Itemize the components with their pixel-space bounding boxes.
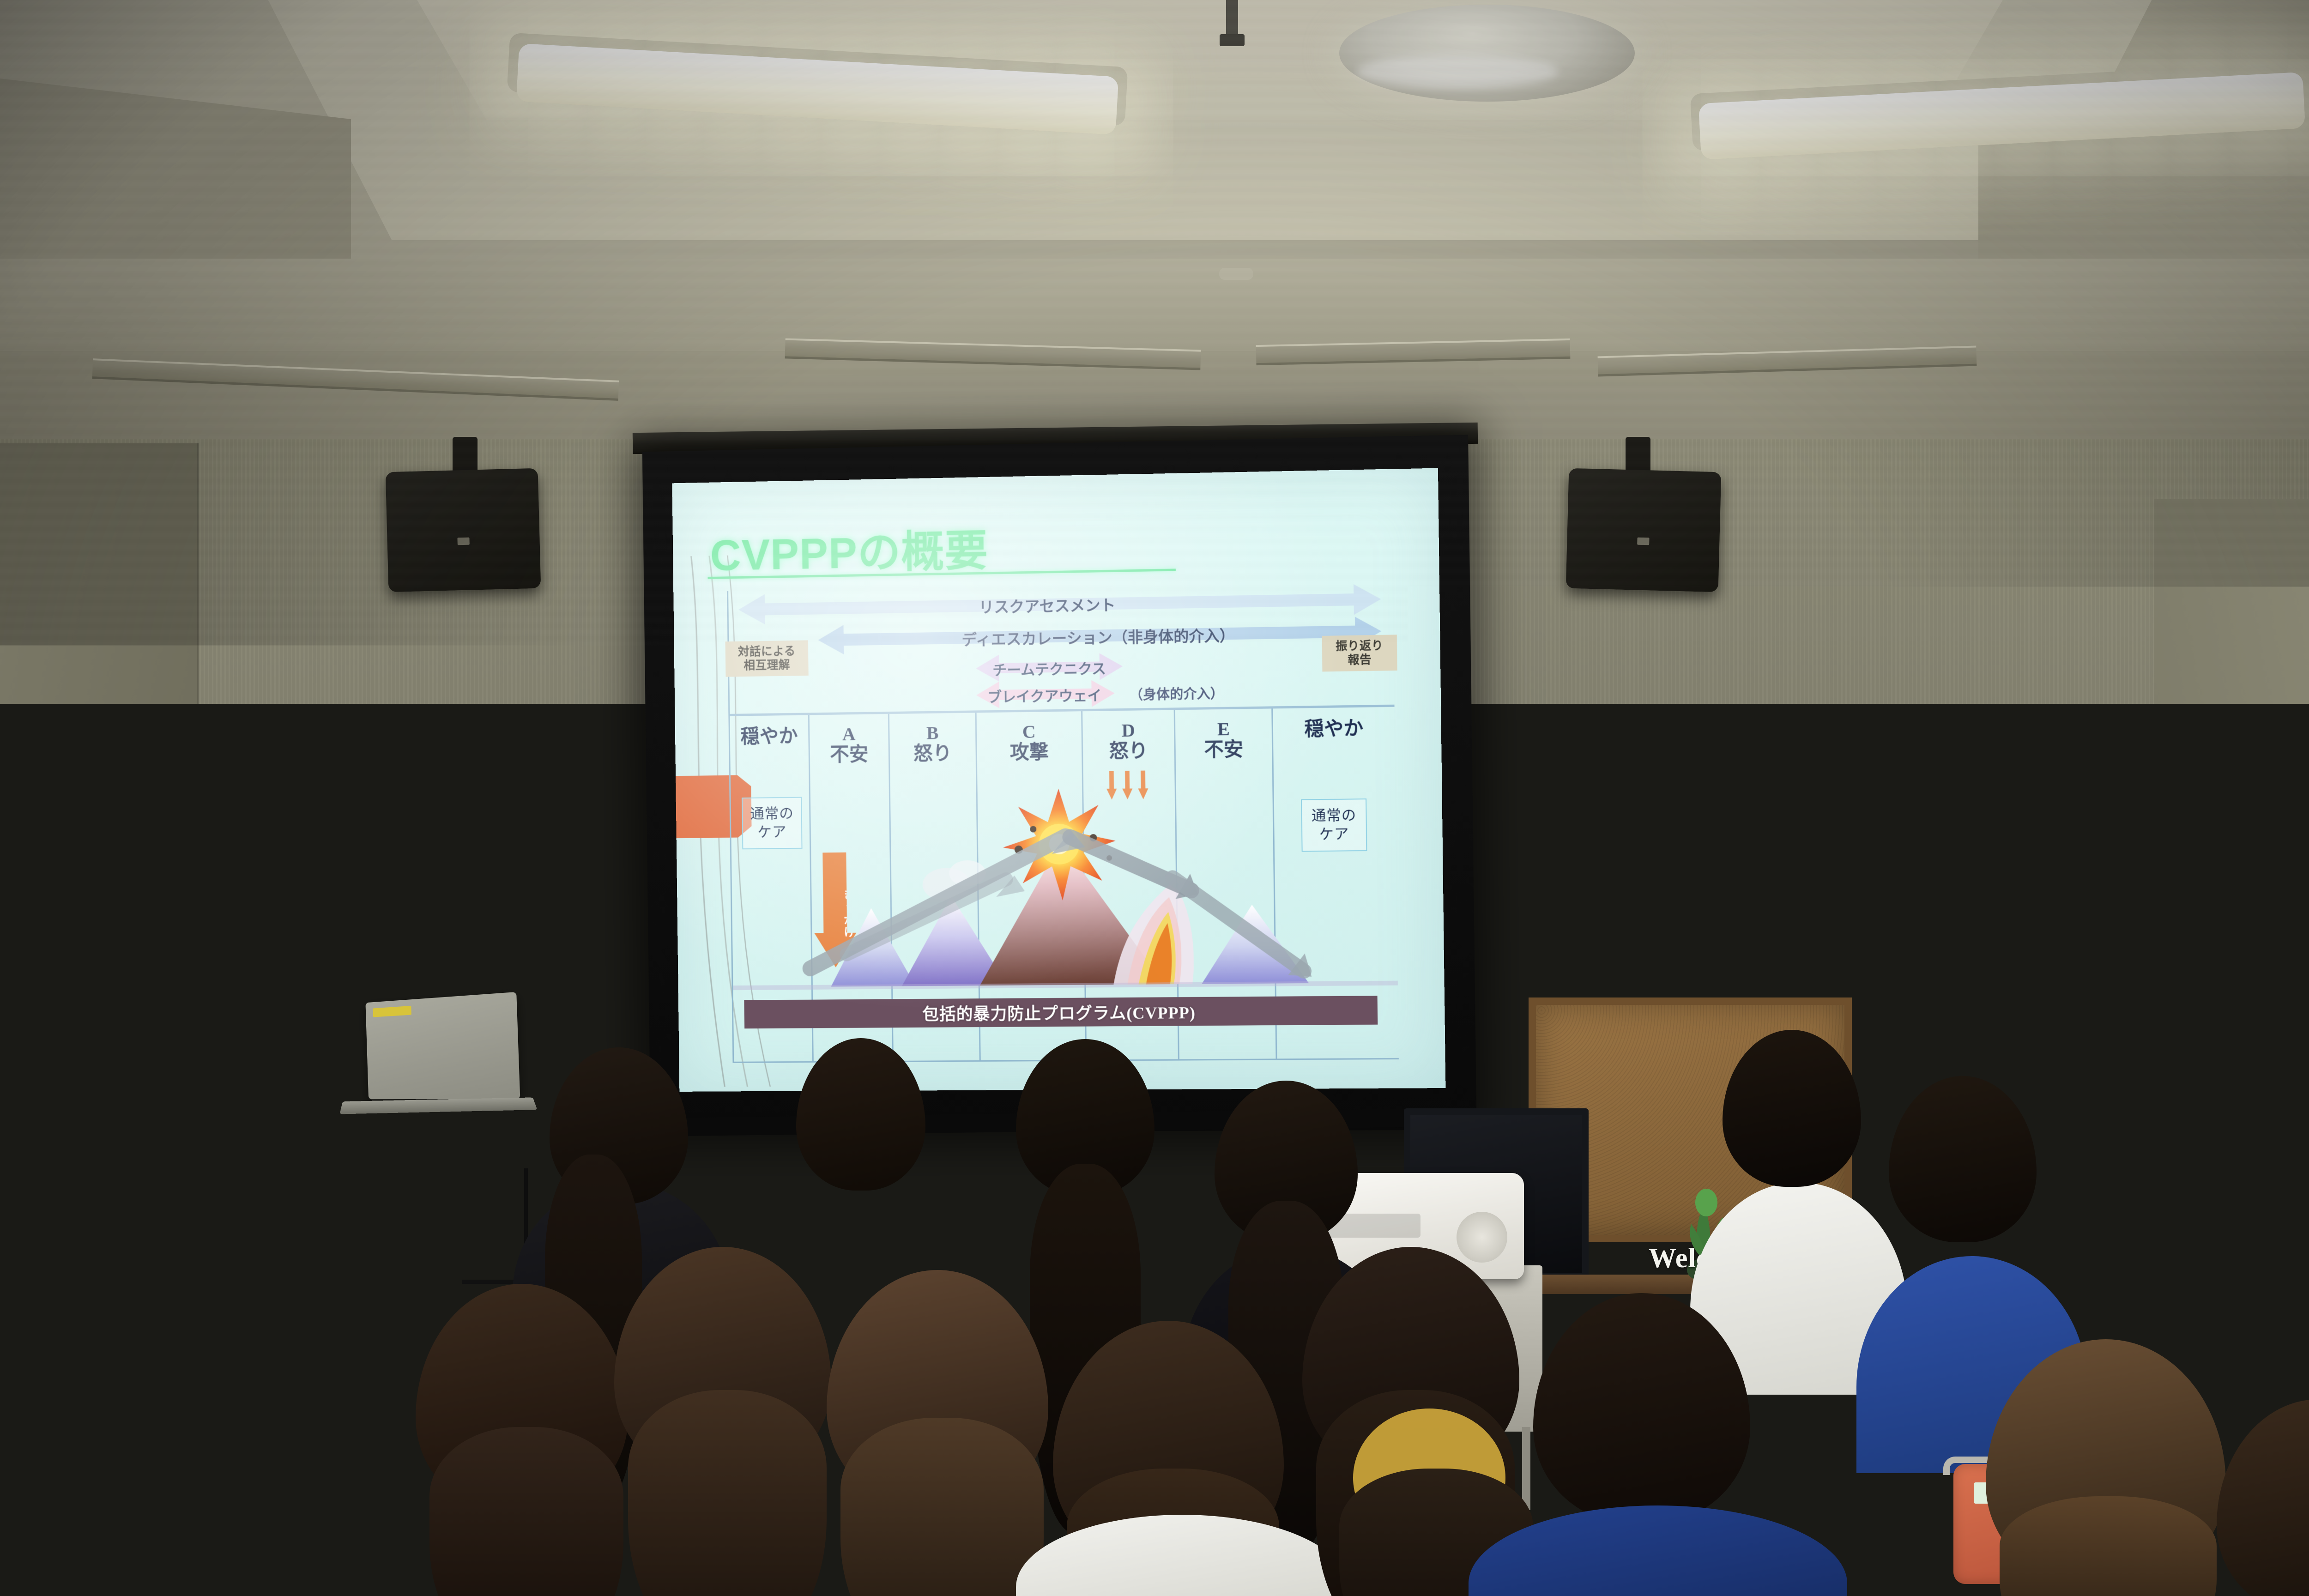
arrow-band: リスクアセスメント ディエスカレーション（非身体的介入） チームテクニクス ブレ… bbox=[728, 580, 1393, 714]
column-header: C 攻撃 bbox=[977, 721, 1082, 765]
audience-ponytail bbox=[628, 1390, 827, 1596]
ceiling-band-upper bbox=[0, 259, 2309, 351]
label-line-2: 報告 bbox=[1328, 653, 1391, 667]
audience-ponytail bbox=[429, 1427, 623, 1596]
column-state: 不安 bbox=[1175, 738, 1272, 762]
annotation-physical-intervention: （身体的介入） bbox=[1130, 683, 1224, 704]
phase-table: 穏やか A 不安 B 怒り C bbox=[730, 705, 1399, 1063]
column-header: 穏やか bbox=[1273, 717, 1395, 742]
column-state: 穏やか bbox=[1273, 717, 1395, 742]
column-header: E 不安 bbox=[1175, 719, 1272, 763]
column-state: 不安 bbox=[810, 744, 889, 767]
column-state: 穏やか bbox=[730, 725, 809, 749]
column-header: 穏やか bbox=[730, 725, 809, 749]
dome-light-icon bbox=[1339, 5, 1635, 102]
column-letter: E bbox=[1175, 719, 1272, 740]
column-state: 怒り bbox=[890, 742, 976, 766]
laptop[interactable] bbox=[365, 992, 520, 1099]
smoke-detector-icon bbox=[1219, 268, 1253, 280]
presenter-face-mask bbox=[249, 855, 331, 914]
speaker-led-icon bbox=[1637, 537, 1649, 545]
label-line-1: 対話による bbox=[731, 645, 803, 659]
column-letter: C bbox=[977, 721, 1082, 742]
audience-ponytail bbox=[2000, 1496, 2217, 1596]
label-line-2: 相互理解 bbox=[731, 658, 803, 673]
laptop-sticker bbox=[373, 1006, 411, 1017]
column-letter: A bbox=[810, 724, 889, 744]
column-header: B 怒り bbox=[889, 723, 976, 766]
arrow-label-breakaway: ブレイクアウェイ bbox=[975, 683, 1114, 706]
column-letter: B bbox=[889, 723, 975, 743]
sunflower-vase-icon bbox=[2254, 1141, 2309, 1242]
label-dialogue-mutual-understanding: 対話による 相互理解 bbox=[725, 640, 809, 677]
speaker-right bbox=[1566, 468, 1722, 592]
screenshot-root: CVPPPの概要 リスクアセスメント ディエスカレーション（非身体的介入） bbox=[0, 0, 2309, 1596]
side-shelf bbox=[2161, 1247, 2309, 1376]
microphone-joint bbox=[290, 1058, 311, 1095]
column-state: 怒り bbox=[1083, 740, 1174, 764]
column-header: D 怒り bbox=[1082, 720, 1174, 763]
ceiling-hook bbox=[1226, 0, 1238, 40]
column-state: 攻撃 bbox=[977, 741, 1082, 765]
projector-speaker-grill-icon bbox=[1457, 1212, 1507, 1263]
audience-head bbox=[2217, 1399, 2309, 1596]
audience-ponytail bbox=[840, 1418, 1044, 1596]
audience-ponytail bbox=[69, 1385, 254, 1596]
speaker-left bbox=[386, 468, 541, 592]
audience-ponytail bbox=[231, 1367, 429, 1596]
volcano-illustration bbox=[731, 764, 1398, 1029]
column-letter: D bbox=[1082, 720, 1174, 741]
column-header: A 不安 bbox=[810, 724, 889, 767]
audience-ponytail bbox=[1750, 1459, 1953, 1596]
presentation-slide: CVPPPの概要 リスクアセスメント ディエスカレーション（非身体的介入） bbox=[672, 468, 1445, 1092]
calendar-poster bbox=[2073, 905, 2207, 1071]
cvppp-diagram: リスクアセスメント ディエスカレーション（非身体的介入） チームテクニクス ブレ… bbox=[727, 580, 1397, 1063]
label-review-report: 振り返り 報告 bbox=[1322, 635, 1397, 671]
label-line-1: 振り返り bbox=[1328, 639, 1391, 654]
speaker-led-icon bbox=[457, 537, 469, 545]
arrow-label-team-technics: チームテクニクス bbox=[976, 657, 1123, 680]
bottom-banner: 包括的暴力防止プログラム(CVPPP) bbox=[744, 996, 1378, 1028]
